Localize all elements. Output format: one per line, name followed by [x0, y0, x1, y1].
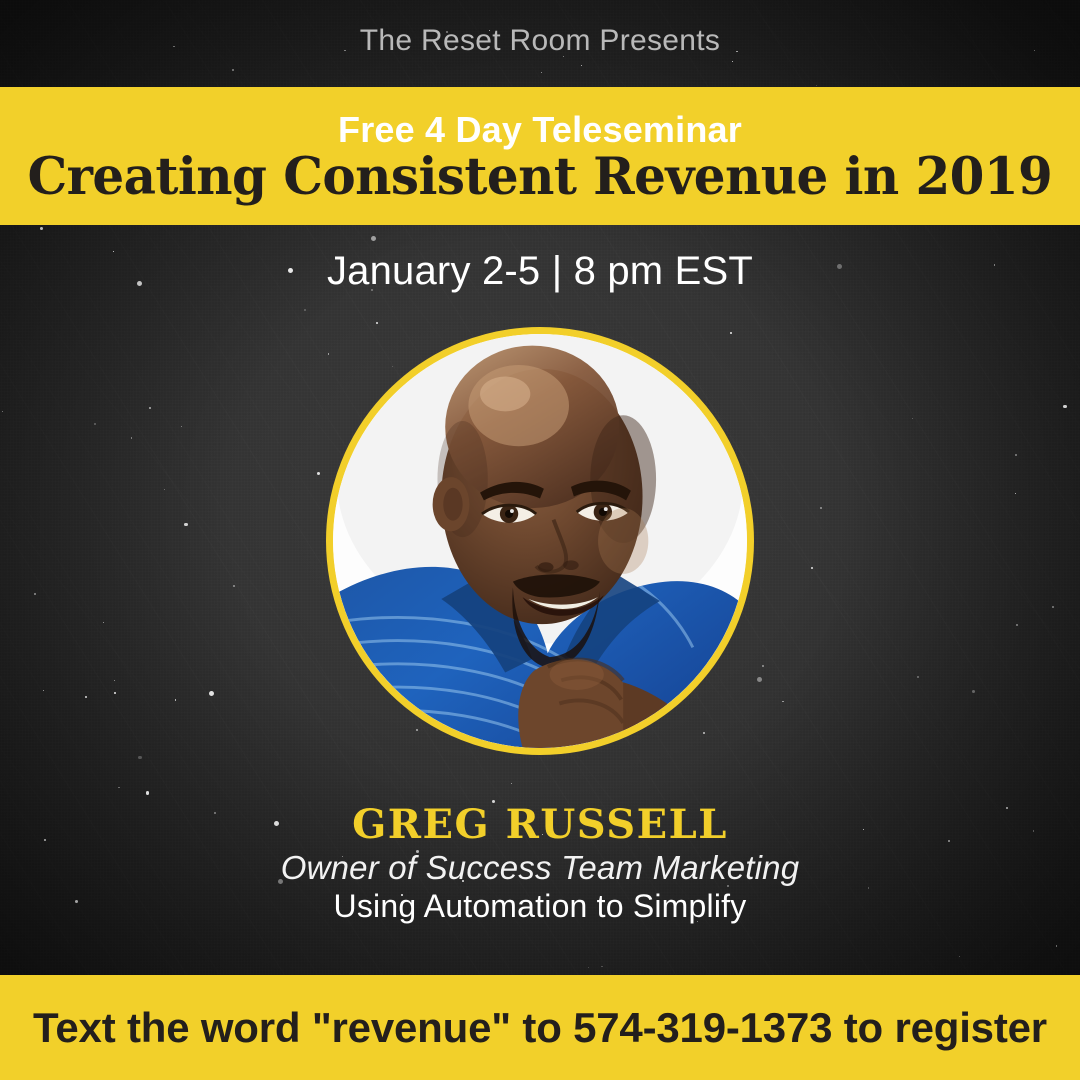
star-speck	[175, 699, 176, 700]
star-speck	[392, 366, 393, 367]
star-speck	[703, 732, 705, 734]
star-speck	[131, 437, 132, 438]
speaker-tagline: Using Automation to Simplify	[0, 888, 1080, 925]
star-speck	[912, 418, 913, 419]
star-speck	[103, 622, 104, 623]
star-speck	[114, 680, 115, 681]
portrait-illustration	[333, 334, 747, 748]
star-speck	[328, 353, 329, 354]
star-speck	[233, 585, 235, 587]
presenter-eyebrow: The Reset Room Presents	[0, 24, 1080, 58]
star-speck	[43, 690, 44, 691]
page-title: Creating Consistent Revenue in 2019	[28, 152, 1053, 203]
star-speck	[541, 72, 542, 73]
star-speck	[416, 729, 418, 731]
star-speck	[588, 967, 589, 968]
schedule-dateline: January 2-5 | 8 pm EST	[0, 249, 1080, 294]
star-speck	[782, 701, 783, 702]
star-speck	[149, 407, 151, 409]
star-speck	[232, 69, 234, 71]
star-speck	[1063, 405, 1066, 408]
star-speck	[1015, 493, 1016, 494]
star-speck	[601, 966, 602, 967]
star-speck	[184, 523, 187, 526]
star-speck	[2, 411, 3, 412]
star-speck	[138, 756, 141, 759]
promo-poster: The Reset Room Presents Free 4 Day Teles…	[0, 0, 1080, 1080]
star-speck	[1052, 606, 1054, 608]
banner-kicker: Free 4 Day Teleseminar	[338, 111, 742, 149]
star-speck	[917, 676, 919, 678]
star-speck	[1015, 454, 1017, 456]
star-speck	[114, 692, 116, 694]
star-speck	[1056, 945, 1057, 946]
star-speck	[816, 85, 817, 86]
speaker-portrait	[326, 327, 754, 755]
star-speck	[118, 787, 119, 788]
cta-text: Text the word "revenue" to 574-319-1373 …	[33, 1004, 1047, 1052]
star-speck	[811, 567, 813, 569]
star-speck	[181, 426, 182, 427]
star-speck	[34, 593, 36, 595]
star-speck	[762, 665, 764, 667]
star-speck	[146, 791, 149, 794]
cta-banner[interactable]: Text the word "revenue" to 574-319-1373 …	[0, 975, 1080, 1080]
star-speck	[820, 507, 822, 509]
star-speck	[94, 423, 96, 425]
star-speck	[511, 783, 512, 784]
star-speck	[732, 61, 733, 62]
star-speck	[371, 236, 376, 241]
portrait-image	[333, 334, 747, 748]
star-speck	[40, 227, 43, 230]
star-speck	[209, 691, 214, 696]
star-speck	[730, 332, 731, 333]
star-speck	[1016, 624, 1018, 626]
speaker-name: GREG RUSSELL	[0, 801, 1080, 848]
star-speck	[304, 309, 306, 311]
star-speck	[757, 677, 762, 682]
star-speck	[972, 690, 975, 693]
star-speck	[85, 696, 87, 698]
star-speck	[376, 322, 378, 324]
star-speck	[581, 65, 582, 66]
headline-banner: Free 4 Day Teleseminar Creating Consiste…	[0, 87, 1080, 225]
speaker-role: Owner of Success Team Marketing	[0, 849, 1080, 887]
star-speck	[317, 472, 320, 475]
star-speck	[959, 956, 960, 957]
star-speck	[164, 489, 165, 490]
